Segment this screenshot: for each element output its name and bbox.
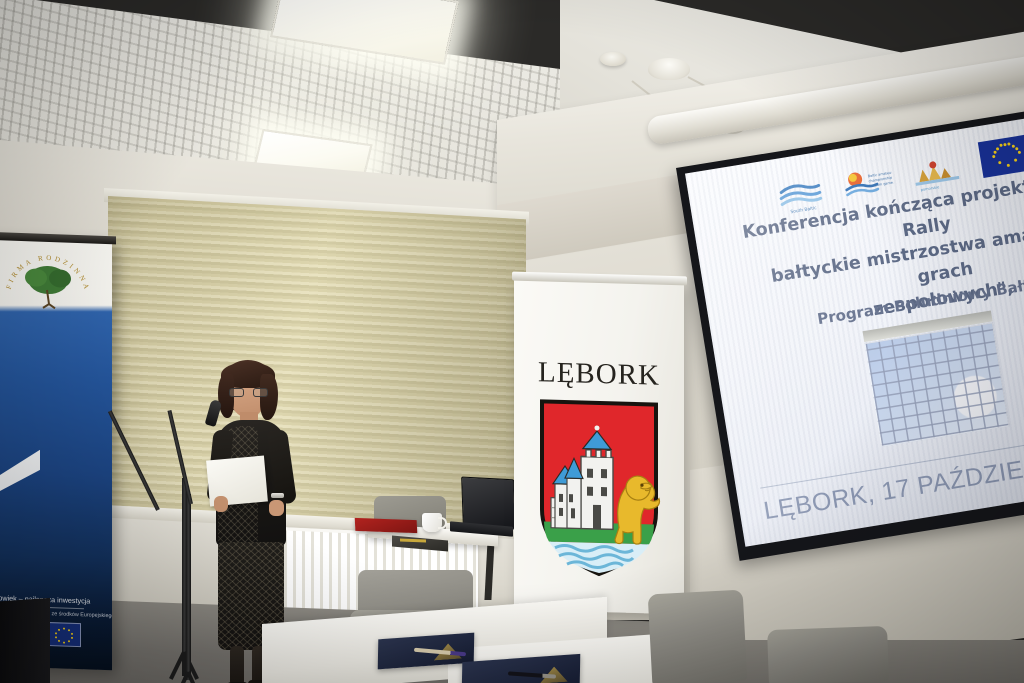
microphone-stand[interactable] xyxy=(168,398,248,683)
presenter-hand-right xyxy=(269,500,284,516)
smoke-detector-icon xyxy=(600,52,626,66)
conference-room-photo: South Baltic Baltic amateur championship… xyxy=(0,0,1024,683)
lebork-coat-of-arms xyxy=(537,397,661,578)
wristwatch xyxy=(271,493,284,498)
projection-screen[interactable]: South Baltic Baltic amateur championship… xyxy=(676,101,1024,561)
ceiling-fixture xyxy=(648,58,690,80)
lebork-roll-up-banner: LĘBORK xyxy=(514,280,684,615)
banner-graphic-wedge xyxy=(0,447,40,506)
mic-stand-leg xyxy=(186,671,201,683)
laptop[interactable] xyxy=(461,477,516,530)
eu-flag-icon xyxy=(45,622,81,647)
coffee-cup[interactable] xyxy=(422,513,442,532)
microphone-icon[interactable] xyxy=(205,399,223,427)
red-folder[interactable] xyxy=(355,518,418,533)
volleyball-net-image xyxy=(864,322,1009,446)
audience-chair[interactable] xyxy=(648,590,748,683)
audience-chair[interactable] xyxy=(767,626,889,683)
eu-flag-logo xyxy=(978,134,1024,178)
mic-stand-pole xyxy=(186,494,191,680)
foreground-shadow xyxy=(0,598,50,683)
firma-rodzinna-logo: FIRMA RODZINNA xyxy=(0,244,100,314)
mic-stand-boom xyxy=(167,410,192,504)
presenter-hair-side xyxy=(260,374,278,420)
lebork-banner-heading: LĘBORK xyxy=(514,356,684,394)
projected-slide: South Baltic Baltic amateur championship… xyxy=(685,109,1024,547)
glasses-icon xyxy=(229,388,268,397)
